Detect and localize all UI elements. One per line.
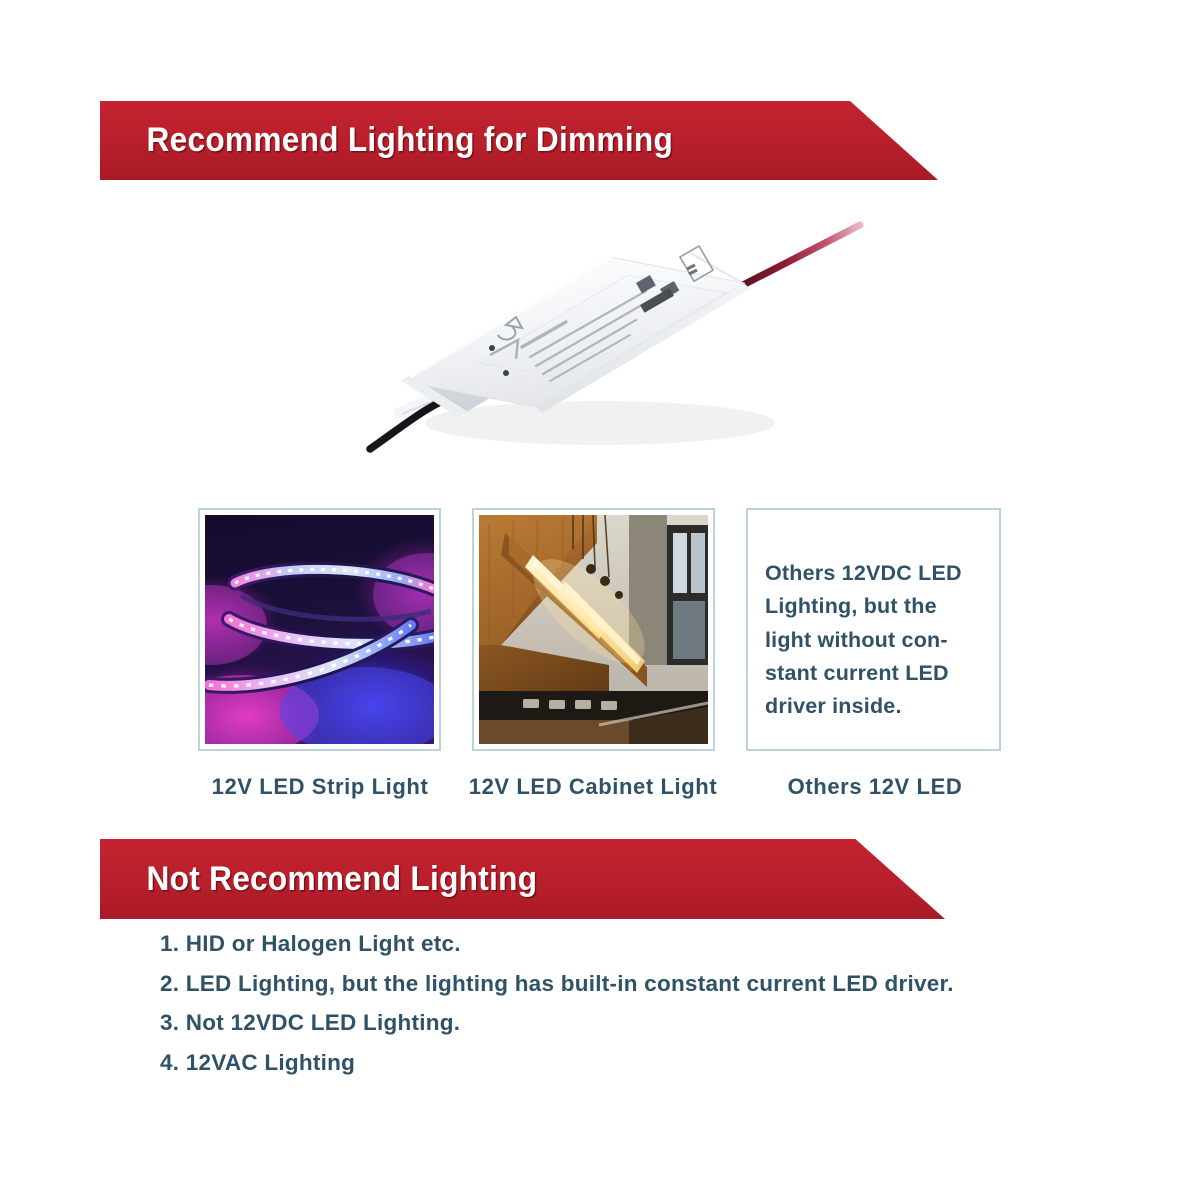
panel-captions: 12V LED Strip Light 12V LED Cabinet Ligh…	[190, 774, 1010, 806]
led-driver-photo	[340, 185, 900, 485]
caption-cabinet-light: 12V LED Cabinet Light	[462, 774, 724, 800]
not-recommend-banner: Not Recommend Lighting	[100, 839, 945, 919]
list-item: 4. 12VAC Lighting	[160, 1052, 1060, 1075]
panel-cabinet-light	[472, 508, 715, 751]
product-info-graphic: Recommend Lighting for Dimming	[0, 0, 1200, 1200]
list-item: 3. Not 12VDC LED Lighting.	[160, 1012, 1060, 1035]
not-recommend-list: 1. HID or Halogen Light etc. 2. LED Ligh…	[160, 933, 1060, 1091]
others-note-line: driver inside.	[765, 690, 986, 723]
lighting-examples-row: Others 12VDC LED Lighting, but the light…	[198, 508, 1002, 751]
others-note-line: stant current LED	[765, 657, 986, 690]
list-item: 2. LED Lighting, but the lighting has bu…	[160, 973, 1060, 996]
others-note-line: light without con-	[765, 624, 986, 657]
others-note-line: Others 12VDC LED	[765, 557, 986, 590]
panel-others-12v-led: Others 12VDC LED Lighting, but the light…	[746, 508, 1001, 751]
others-note-text: Others 12VDC LED Lighting, but the light…	[753, 515, 994, 724]
led-cabinet-light-photo	[479, 515, 708, 744]
list-item: 1. HID or Halogen Light etc.	[160, 933, 1060, 956]
led-strip-light-photo	[205, 515, 434, 744]
recommend-banner: Recommend Lighting for Dimming	[100, 101, 938, 180]
not-recommend-banner-title: Not Recommend Lighting	[100, 860, 537, 899]
recommend-banner-title: Recommend Lighting for Dimming	[100, 121, 673, 160]
panel-strip-light	[198, 508, 441, 751]
others-note-line: Lighting, but the	[765, 590, 986, 623]
caption-others-led: Others 12V LED	[746, 774, 1004, 800]
caption-strip-light: 12V LED Strip Light	[192, 774, 448, 800]
